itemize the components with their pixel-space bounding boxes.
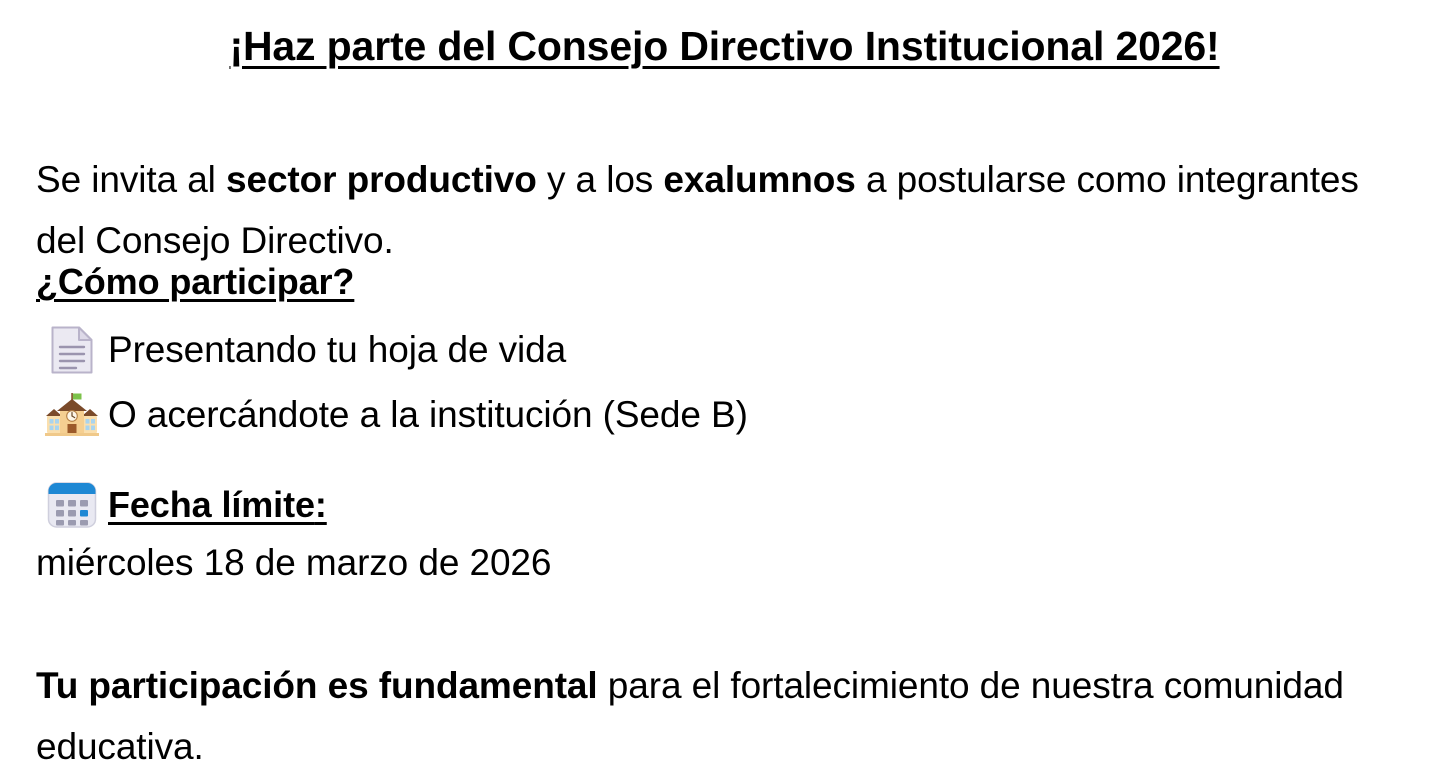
how-to-participate-heading-text: ¿Cómo participar? <box>36 261 354 302</box>
closing-paragraph: Tu participación es fundamental para el … <box>36 655 1366 777</box>
calendar-icon <box>36 477 108 533</box>
list-item: O acercándote a la institución (Sede B) <box>36 387 1366 443</box>
school-building-icon <box>36 387 108 443</box>
intro-text-part1: Se invita al <box>36 159 226 200</box>
intro-paragraph: Se invita al sector productivo y a los e… <box>36 149 1366 271</box>
intro-text-part2: y a los <box>537 159 664 200</box>
list-item-label: O acercándote a la institución (Sede B) <box>108 388 748 442</box>
intro-bold-sector-productivo: sector productivo <box>226 159 537 200</box>
deadline-heading-colon: : <box>315 484 327 525</box>
slide-canvas: ¡Haz parte del Consejo Directivo Institu… <box>0 0 1449 775</box>
deadline-heading-label: Fecha límite <box>108 484 315 525</box>
how-to-participate-heading: ¿Cómo participar? <box>36 258 354 306</box>
deadline-heading: Fecha límite: <box>108 478 327 532</box>
page-title: ¡Haz parte del Consejo Directivo Institu… <box>0 24 1449 70</box>
page-title-text: ¡Haz parte del Consejo Directivo Institu… <box>229 23 1219 69</box>
page-document-icon <box>36 322 108 378</box>
list-item-label: Presentando tu hoja de vida <box>108 323 566 377</box>
deadline-date: miércoles 18 de marzo de 2026 <box>36 535 551 591</box>
list-item: Presentando tu hoja de vida <box>36 322 1366 378</box>
deadline-heading-row: Fecha límite: <box>36 477 1366 533</box>
intro-bold-exalumnos: exalumnos <box>663 159 855 200</box>
closing-bold-participacion: Tu participación es fundamental <box>36 665 598 706</box>
